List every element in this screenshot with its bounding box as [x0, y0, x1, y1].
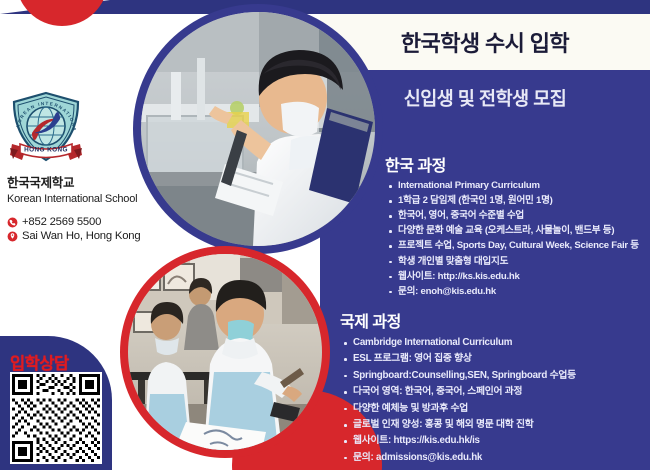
contact-address-text: Sai Wan Ho, Hong Kong: [22, 230, 140, 242]
section-korean-course: 한국 과정 International Primary Curriculum 1…: [385, 152, 650, 300]
poster-title: 한국학생 수시 입학: [320, 14, 650, 70]
list-item: Springboard:Counselling,SEN, Springboard…: [340, 369, 650, 383]
school-name-block: 한국국제학교 Korean International School: [7, 176, 177, 206]
svg-text:HONG KONG: HONG KONG: [24, 147, 68, 154]
school-name-english: Korean International School: [7, 192, 177, 206]
list-item: 1학급 2 담임제 (한국인 1명, 원어민 1명): [385, 194, 650, 208]
section-international-course: 국제 과정 Cambridge International Curriculum…: [340, 308, 650, 467]
list-item: ESL 프로그램: 영어 집중 향상: [340, 352, 650, 366]
international-course-list: Cambridge International Curriculum ESL 프…: [340, 336, 650, 465]
list-item-email[interactable]: 문의: admissions@kis.edu.hk: [340, 451, 650, 465]
list-item: 학생 개인별 맞춤형 대입지도: [385, 255, 650, 269]
list-item-website[interactable]: 웹사이트: https://kis.edu.hk/is: [340, 434, 650, 448]
contact-phone-text: +852 2569 5500: [22, 216, 101, 228]
qr-label: 입학상담: [10, 350, 69, 374]
phone-icon: [7, 217, 18, 228]
school-name-korean: 한국국제학교: [7, 176, 177, 192]
poster-canvas: KOREAN INTERNATIONAL SCHOOL HONG KONG 한국…: [0, 0, 650, 470]
left-info-column: KOREAN INTERNATIONAL SCHOOL HONG KONG 한국…: [0, 0, 180, 470]
contact-list: +852 2569 5500 Sai Wan Ho, Hong Kong: [7, 216, 182, 244]
section-title-korean: 한국 과정: [385, 152, 650, 176]
admissions-qr-code[interactable]: [10, 372, 102, 464]
list-item: 다양한 예체능 및 방과후 수업: [340, 402, 650, 416]
list-item-website[interactable]: 웹사이트: http://ks.kis.edu.hk: [385, 270, 650, 284]
list-item: 한국어, 영어, 중국어 수준별 수업: [385, 209, 650, 223]
section-title-international: 국제 과정: [340, 308, 650, 332]
list-item: 다국어 영역: 한국어, 중국어, 스페인어 과정: [340, 385, 650, 399]
list-item: Cambridge International Curriculum: [340, 336, 650, 350]
contact-phone-row: +852 2569 5500: [7, 216, 182, 228]
list-item-email[interactable]: 문의: enoh@kis.edu.hk: [385, 285, 650, 299]
korean-course-list: International Primary Curriculum 1학급 2 담…: [385, 179, 650, 298]
list-item: 프로젝트 수업, Sports Day, Cultural Week, Scie…: [385, 239, 650, 253]
list-item: 다양한 문화 예술 교육 (오케스트라, 사물놀이, 밴드부 등): [385, 224, 650, 238]
qr-code-graphic: [12, 374, 100, 462]
list-item: 글로벌 인재 양성: 홍콩 및 해외 명문 대학 진학: [340, 418, 650, 432]
contact-address-row: Sai Wan Ho, Hong Kong: [7, 230, 182, 242]
school-crest-logo: KOREAN INTERNATIONAL SCHOOL HONG KONG: [8, 90, 84, 172]
location-pin-icon: [7, 231, 18, 242]
crest-icon: KOREAN INTERNATIONAL SCHOOL HONG KONG: [8, 90, 84, 172]
poster-subtitle: 신입생 및 전학생 모집: [320, 78, 650, 118]
list-item: International Primary Curriculum: [385, 179, 650, 193]
